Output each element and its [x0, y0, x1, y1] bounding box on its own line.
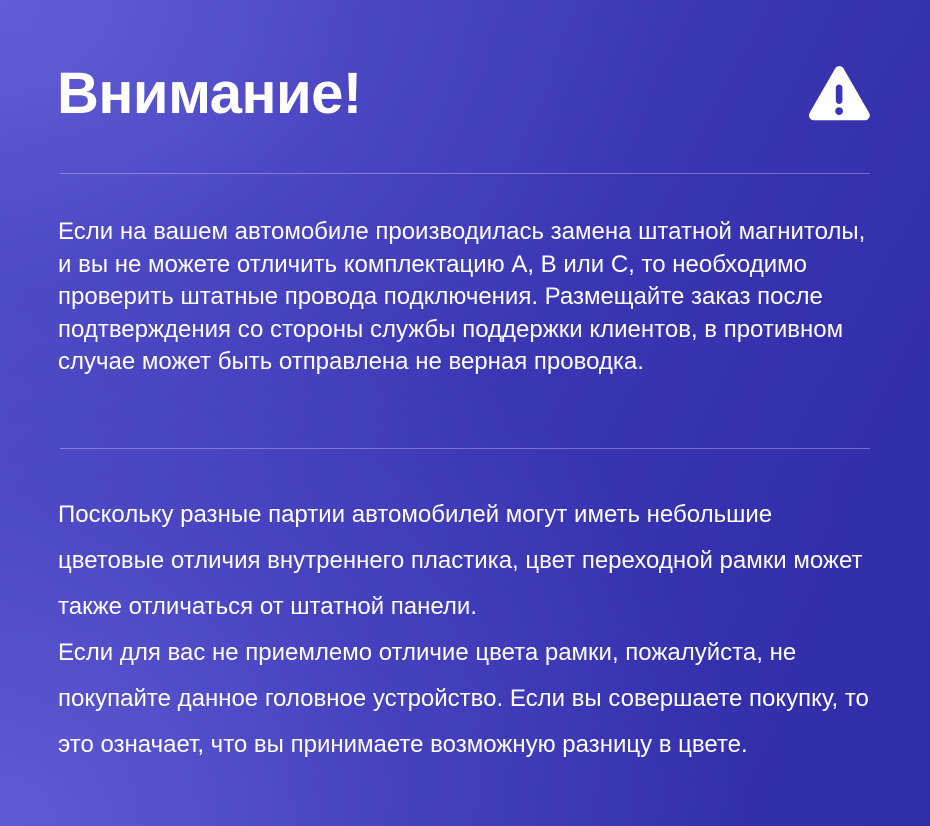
warning-notice-banner: Внимание! Если на вашем автомобиле произ… [0, 0, 930, 826]
divider-middle [60, 448, 870, 449]
warning-triangle-icon [806, 60, 872, 128]
page-title: Внимание! [57, 62, 362, 126]
primary-notice-section: Если на вашем автомобиле производилась з… [58, 216, 874, 379]
secondary-notice-text-2: Если для вас не приемлемо отличие цвета … [58, 630, 874, 768]
banner-header: Внимание! [57, 52, 872, 136]
divider-top [60, 173, 870, 174]
secondary-notice-section: Поскольку разные партии автомобилей могу… [58, 492, 874, 768]
primary-notice-text: Если на вашем автомобиле производилась з… [58, 216, 874, 379]
secondary-notice-text-1: Поскольку разные партии автомобилей могу… [58, 492, 874, 630]
